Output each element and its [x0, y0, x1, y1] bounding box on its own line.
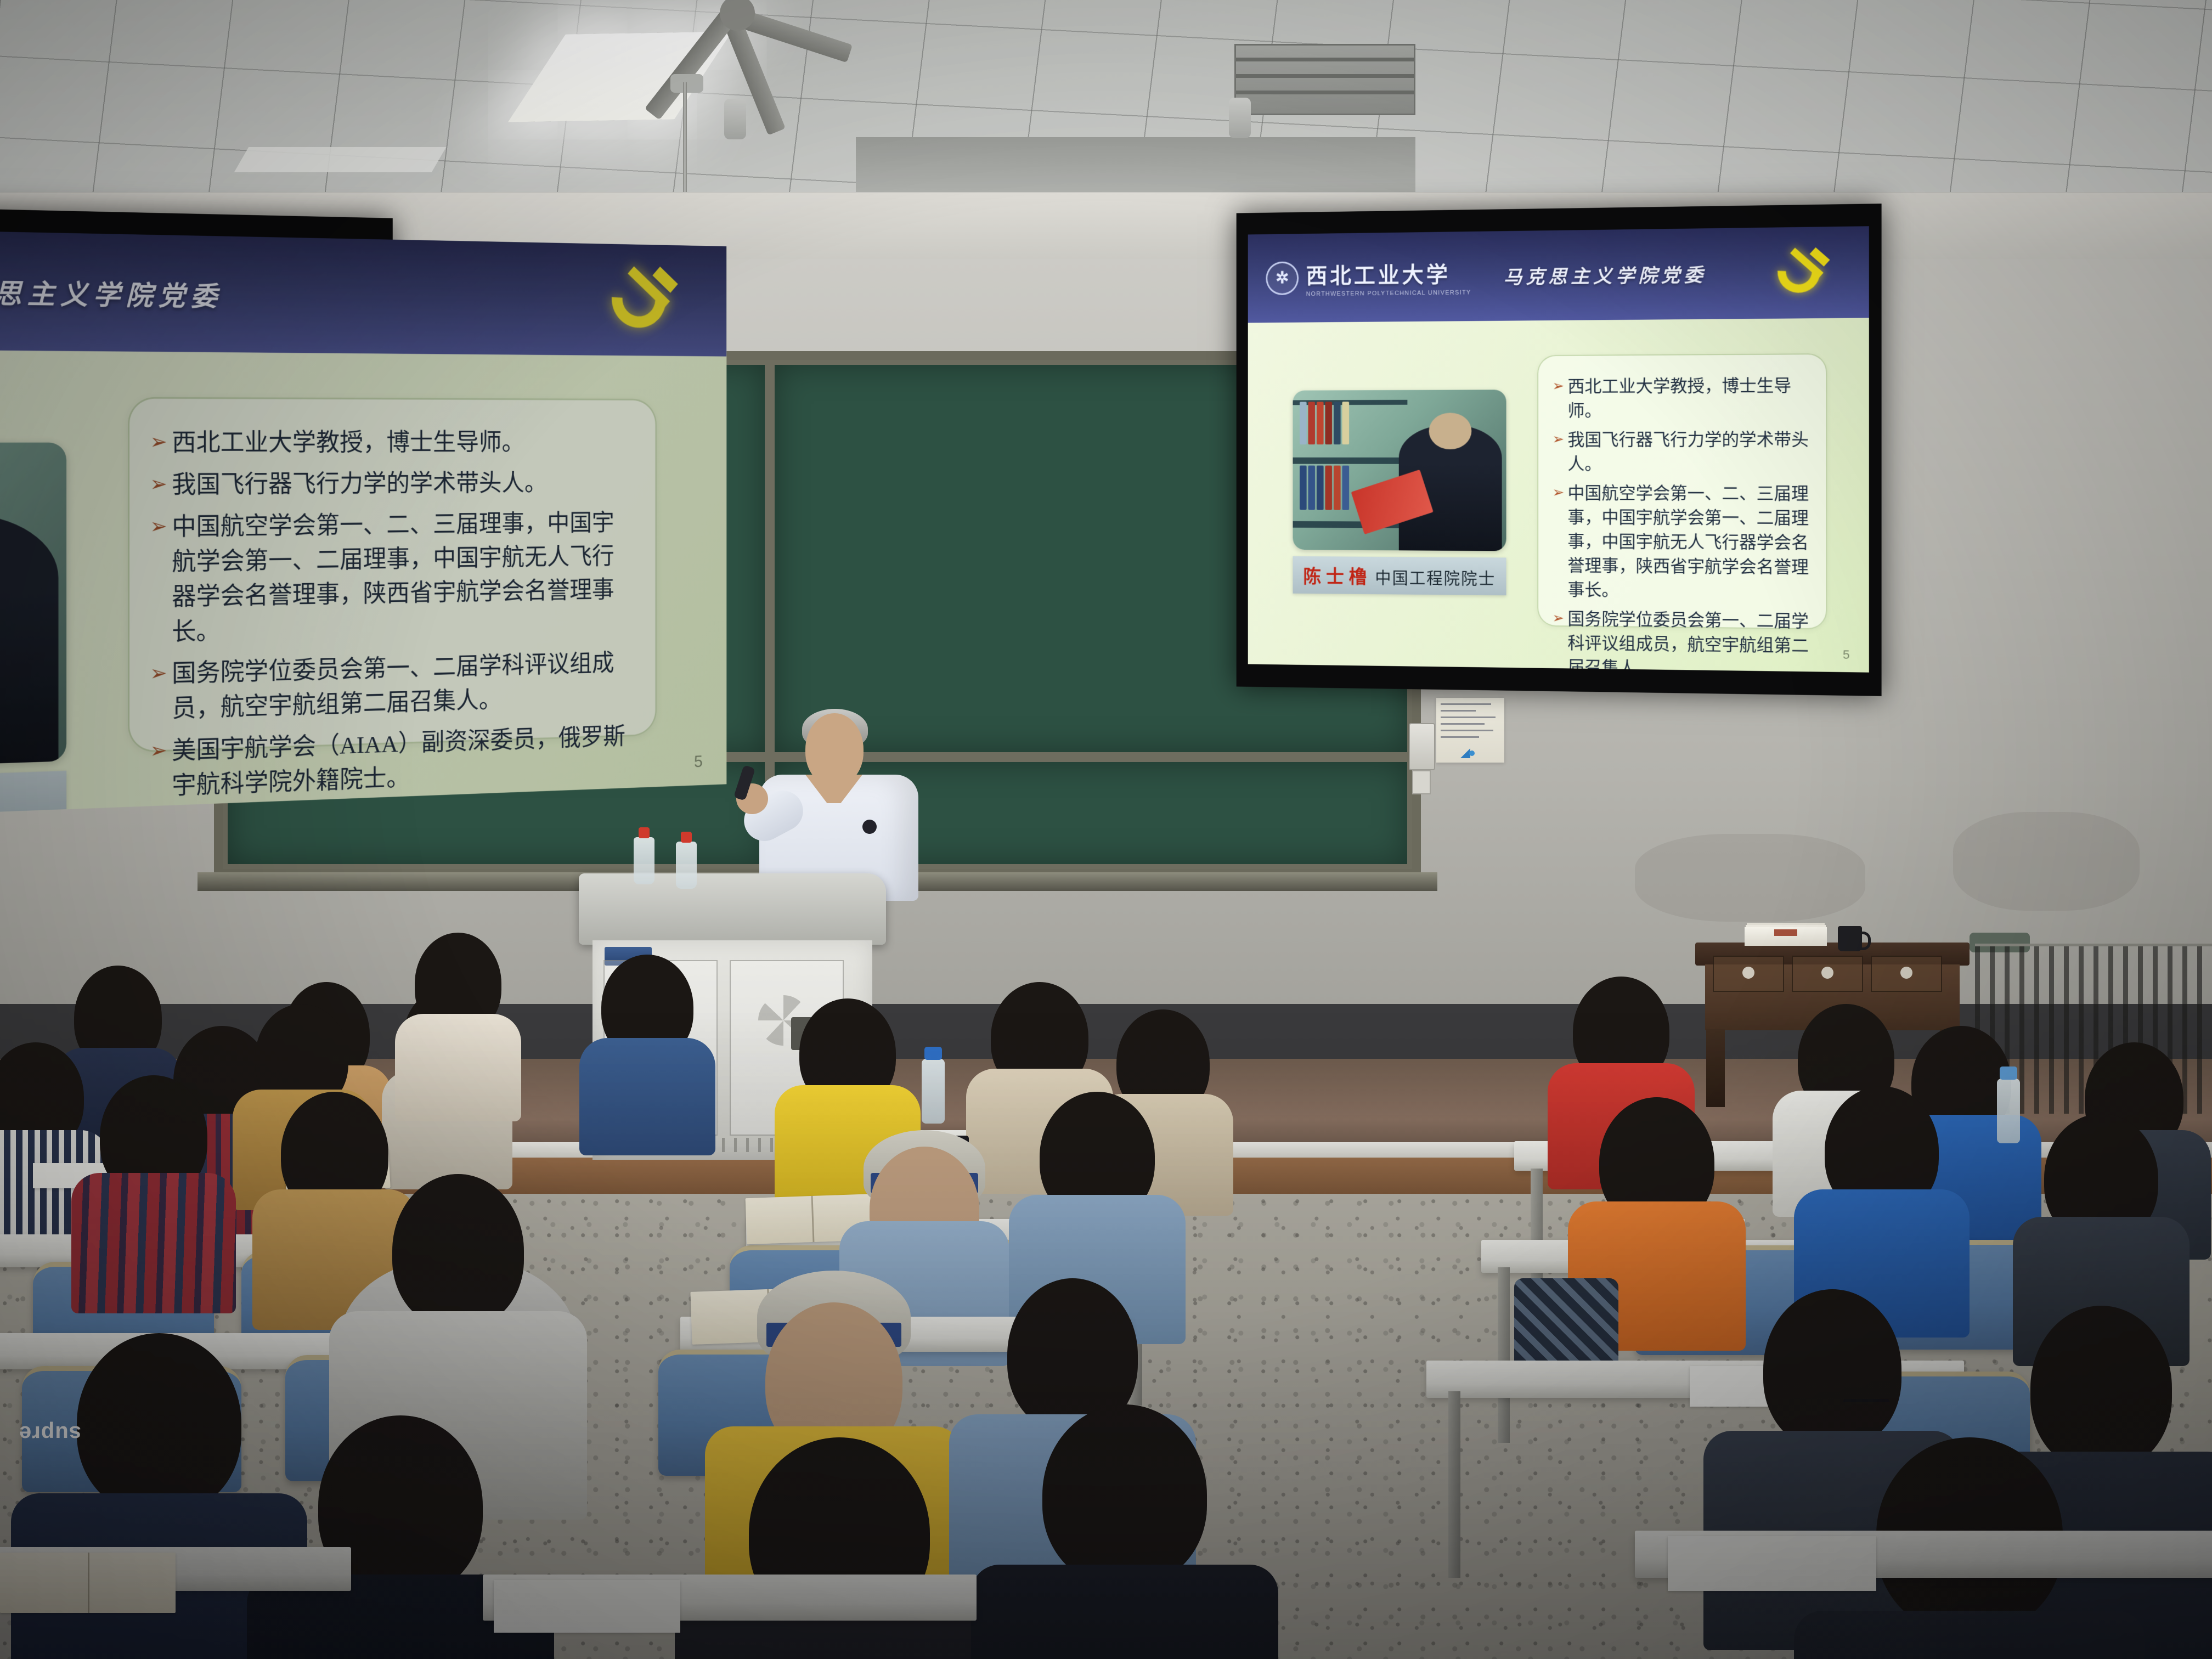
bullet-text: 西北工业大学教授，博士生导师。 — [1567, 374, 1809, 423]
academician-photo-left — [0, 443, 66, 776]
slide-body: 陈士橹中国工程院院士 ➢西北工业大学教授，博士生导师。 ➢我国飞行器飞行力学的学… — [1248, 318, 1869, 673]
desk-leg — [1448, 1391, 1460, 1578]
student — [1009, 1404, 1240, 1659]
slide-body-left: 陈士橹中国工程院院士 ➢西北工业大学教授，博士生导师。 ➢我国飞行器飞行力学的学… — [0, 347, 726, 830]
slide-left: ✲ 西北工业大学 NORTHWESTERN POLYTECHNICAL UNIV… — [0, 222, 726, 831]
student — [395, 933, 521, 1097]
hammer-and-sickle-icon — [607, 267, 684, 334]
slide-bullet: ➢国务院学位委员会第一、二届学科评议组成员，航空宇航组第二届召集人。 — [150, 646, 634, 727]
bullet-text: 我国飞行器飞行力学的学术带头人。 — [1567, 427, 1809, 476]
ceiling-speaker-icon — [1229, 98, 1251, 138]
ceiling — [0, 0, 2212, 219]
slide-bullet: ➢中国航空学会第一、二、三届理事，中国宇航学会第一、二届理事，中国宇航无人飞行器… — [150, 506, 634, 650]
slide-bullet: ➢我国飞行器飞行力学的学术带头人。 — [1553, 427, 1809, 476]
department-name: 马克思主义学院党委 — [1504, 260, 1707, 289]
bullet-arrow-icon: ➢ — [1553, 481, 1565, 504]
cable-anchor — [670, 74, 703, 93]
bullet-text: 国务院学位委员会第一、二届学科评议组成员，航空宇航组第二届召集人。 — [1567, 607, 1809, 672]
paper-sheet — [494, 1580, 680, 1633]
slide-page-number: 5 — [1843, 647, 1850, 662]
ceiling-speaker-icon — [724, 99, 746, 139]
slide-page-number-left: 5 — [694, 752, 703, 772]
student — [713, 1437, 966, 1659]
wall-notice — [1436, 698, 1504, 763]
slide-bullet: ➢我国飞行器飞行力学的学术带头人。 — [150, 466, 634, 503]
university-crest-icon: ✲ — [1266, 261, 1299, 295]
academician-name: 陈士橹 — [1303, 567, 1372, 588]
air-vent-icon — [1234, 44, 1415, 115]
desk-papers — [1745, 927, 1827, 946]
student — [285, 1415, 516, 1659]
department-name-left: 马克思主义学院党委 — [0, 270, 223, 314]
academician-photo — [1293, 390, 1506, 551]
student — [2019, 1114, 2183, 1339]
hammer-and-sickle-icon — [1774, 248, 1835, 298]
eyeglasses-icon — [1843, 1399, 1889, 1411]
bullet-arrow-icon: ➢ — [1553, 375, 1565, 398]
lapel-mic-icon — [862, 820, 877, 834]
slide-main: ✲ 西北工业大学 NORTHWESTERN POLYTECHNICAL UNIV… — [1248, 226, 1869, 672]
bullet-arrow-icon: ➢ — [1553, 428, 1565, 451]
figure-block-left: 陈士橹中国工程院院士 — [0, 443, 66, 830]
lecturer — [735, 713, 933, 894]
figure-caption: 陈士橹中国工程院院士 — [1293, 556, 1506, 595]
lecture-hall-photo: ✲ 西北工业大学 NORTHWESTERN POLYTECHNICAL UNIV… — [0, 0, 2212, 1659]
bullet-card-left: ➢西北工业大学教授，博士生导师。 ➢我国飞行器飞行力学的学术带头人。 ➢中国航空… — [128, 397, 657, 752]
notice-logo-icon — [1460, 746, 1479, 758]
slide-bullet: ➢国务院学位委员会第一、二届学科评议组成员，航空宇航组第二届召集人。 — [1553, 607, 1809, 673]
wall-scuff — [1953, 812, 2140, 911]
slide-bullet: ➢西北工业大学教授，博士生导师。 — [1553, 374, 1809, 423]
supreme-brand-text: supre — [19, 1421, 81, 1446]
wall-scuff — [1635, 834, 1865, 922]
desk-leg — [1498, 1267, 1510, 1443]
water-bottle — [1997, 1079, 2020, 1143]
slide-header: ✲ 西北工业大学 NORTHWESTERN POLYTECHNICAL UNIV… — [1248, 226, 1869, 323]
bullet-arrow-icon: ➢ — [1553, 607, 1565, 630]
fluorescent-tube-secondary-icon — [234, 147, 447, 172]
academician-title: 中国工程院院士 — [1375, 569, 1496, 588]
ceiling-fan-icon — [708, 0, 905, 60]
projection-screen-left: ✲ 西北工业大学 NORTHWESTERN POLYTECHNICAL UNIV… — [0, 207, 393, 657]
open-notebook — [0, 1553, 176, 1613]
water-bottle — [676, 842, 697, 889]
water-bottle — [634, 837, 654, 884]
slide-bullet: ➢中国航空学会第一、二、三届理事，中国宇航学会第一、二届理事，中国宇航无人飞行器… — [1553, 481, 1809, 604]
projection-screen-main: ✲ 西北工业大学 NORTHWESTERN POLYTECHNICAL UNIV… — [1237, 204, 1882, 696]
wall-control-box-lower — [1412, 770, 1431, 794]
podium-top — [579, 873, 886, 945]
student — [1799, 1086, 1964, 1311]
bullet-text: 中国航空学会第一、二、三届理事，中国宇航学会第一、二届理事，中国宇航无人飞行器学… — [1567, 481, 1809, 604]
student — [582, 955, 713, 1130]
university-name: 西北工业大学 NORTHWESTERN POLYTECHNICAL UNIVER… — [1306, 257, 1471, 297]
bullet-card: ➢西北工业大学教授，博士生导师。 ➢我国飞行器飞行力学的学术带头人。 ➢中国航空… — [1537, 353, 1827, 629]
slide-bullet: ➢西北工业大学教授，博士生导师。 — [150, 426, 634, 461]
student — [77, 1075, 230, 1289]
paper-sheet — [1668, 1536, 1876, 1591]
wall-control-box-icon[interactable] — [1409, 723, 1435, 770]
figure-block: 陈士橹中国工程院院士 — [1293, 390, 1506, 595]
desk-mug-icon — [1838, 926, 1862, 951]
